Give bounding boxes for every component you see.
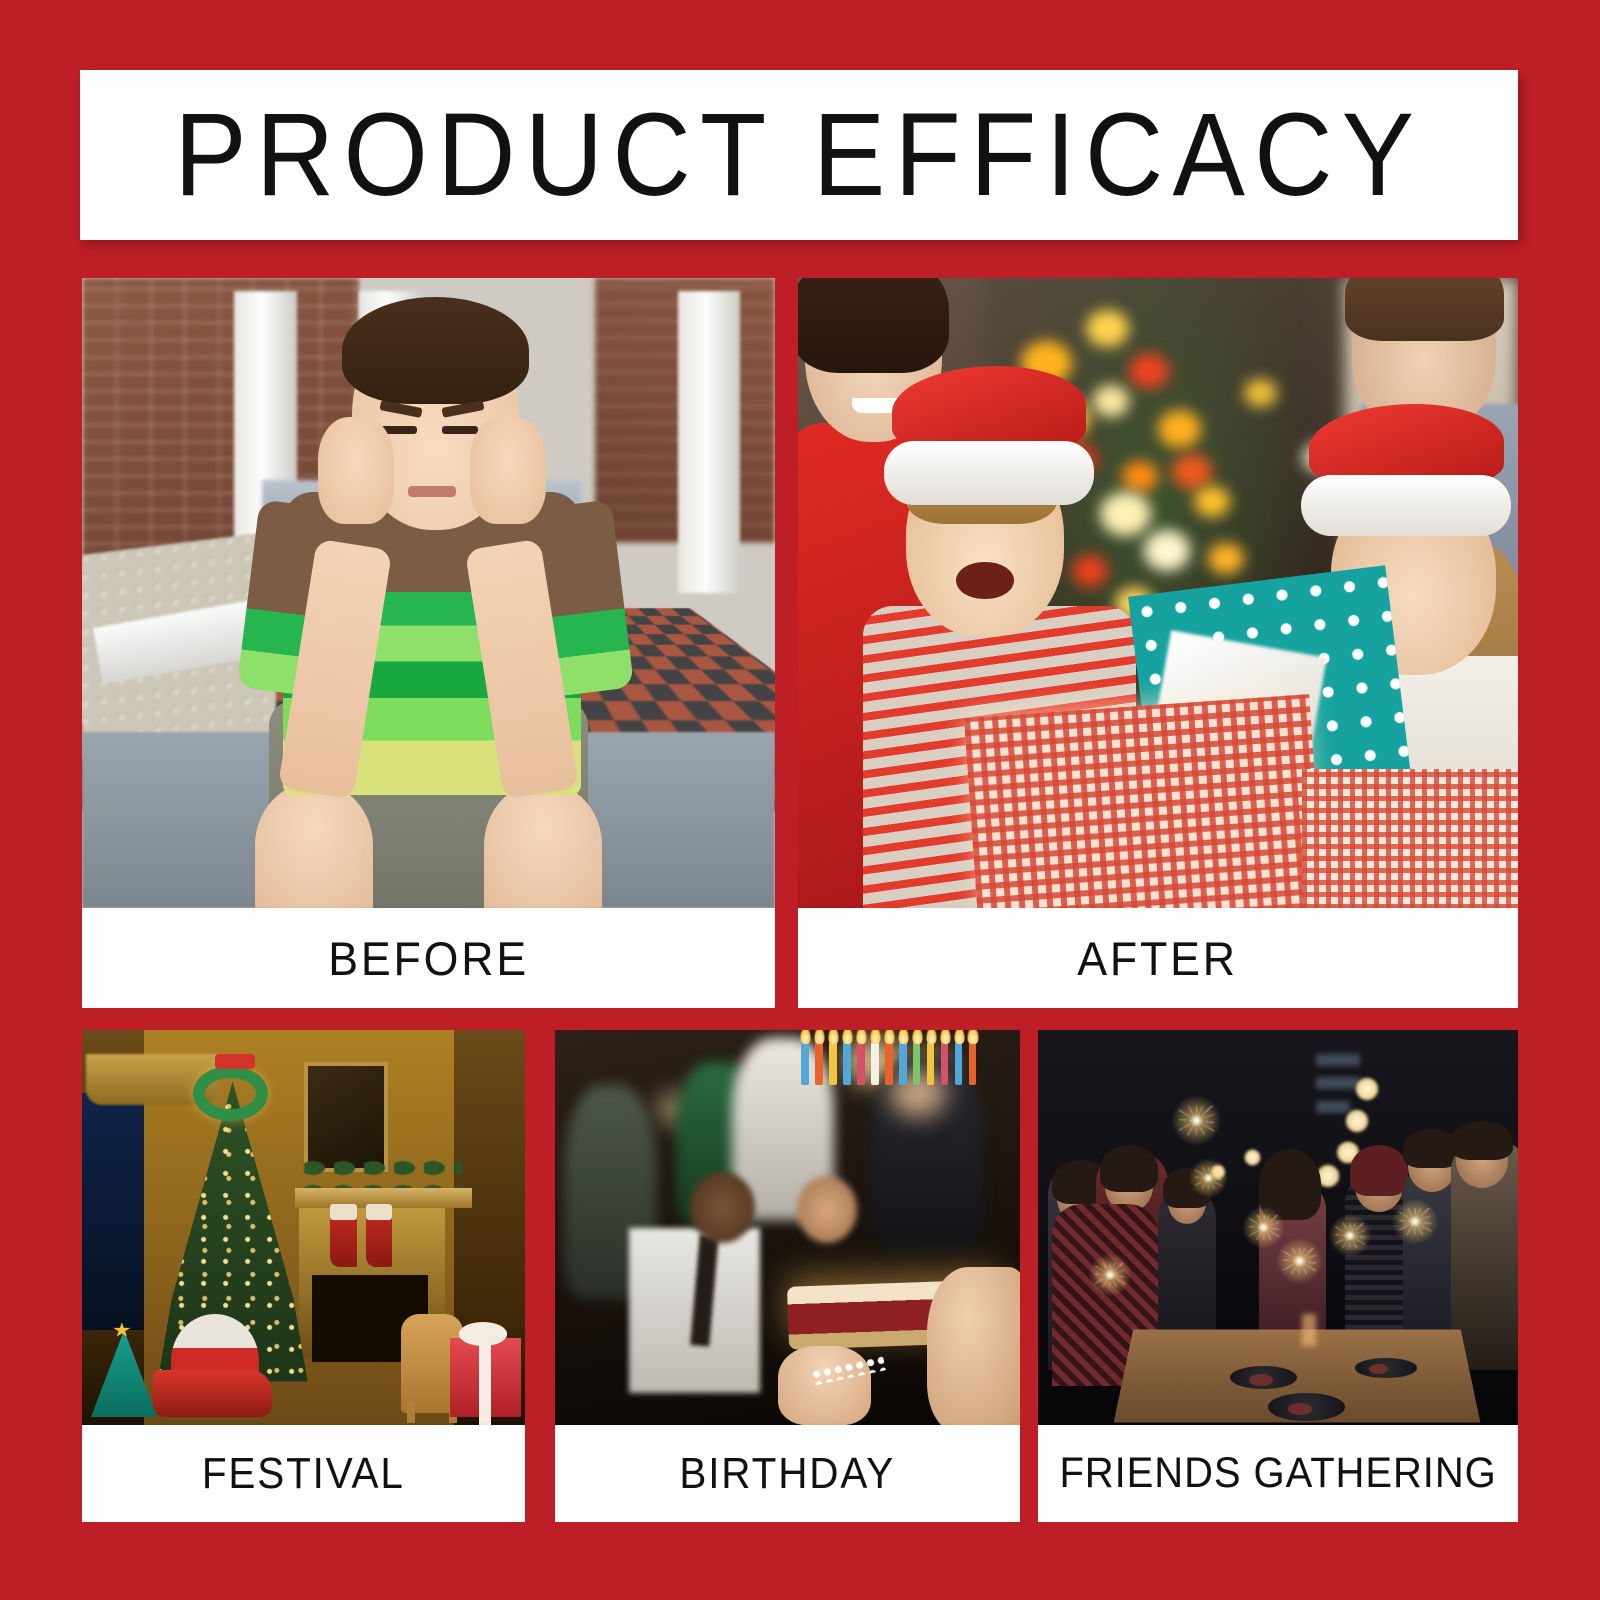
- scene-friends-sparklers: [1038, 1030, 1518, 1425]
- sparkler-icon: [1268, 1235, 1330, 1286]
- scene-christmas-family: [798, 278, 1518, 908]
- page-title: PRODUCT EFFICACY: [175, 96, 1424, 214]
- sparkler-icon: [1384, 1196, 1446, 1247]
- sparkler-icon: [1163, 1093, 1230, 1148]
- caption-band-birthday: BIRTHDAY: [555, 1425, 1020, 1522]
- scene-christmas-room: [82, 1030, 525, 1425]
- scene-birthday-party: [555, 1030, 1020, 1425]
- caption-friends: FRIENDS GATHERING: [1059, 1452, 1496, 1495]
- caption-band-after: AFTER: [798, 908, 1518, 1008]
- caption-before: BEFORE: [328, 935, 529, 982]
- wreath-icon: [193, 1066, 268, 1121]
- sparkler-icon: [1321, 1212, 1379, 1259]
- caption-band-before: BEFORE: [82, 908, 775, 1008]
- photo-before: [82, 278, 775, 908]
- scene-sad-boy: [82, 278, 775, 908]
- panel-birthday: BIRTHDAY: [555, 1030, 1020, 1522]
- header-banner: PRODUCT EFFICACY: [80, 70, 1518, 240]
- sparkler-icon: [1182, 1156, 1235, 1199]
- santa-hat-icon: [892, 366, 1086, 505]
- panel-festival: FESTIVAL: [82, 1030, 525, 1522]
- caption-festival: FESTIVAL: [202, 1452, 405, 1496]
- photo-festival: [82, 1030, 525, 1425]
- photo-after: [798, 278, 1518, 908]
- photo-birthday: [555, 1030, 1020, 1425]
- photo-friends: [1038, 1030, 1518, 1425]
- caption-band-festival: FESTIVAL: [82, 1425, 525, 1522]
- panel-after: AFTER: [798, 278, 1518, 1008]
- panel-friends: FRIENDS GATHERING: [1038, 1030, 1518, 1522]
- sparkler-icon: [1081, 1251, 1139, 1298]
- santa-hat-icon: [1309, 404, 1503, 536]
- caption-band-friends: FRIENDS GATHERING: [1038, 1425, 1518, 1522]
- caption-birthday: BIRTHDAY: [680, 1452, 896, 1496]
- caption-after: AFTER: [1078, 935, 1239, 982]
- panel-before: BEFORE: [82, 278, 775, 1008]
